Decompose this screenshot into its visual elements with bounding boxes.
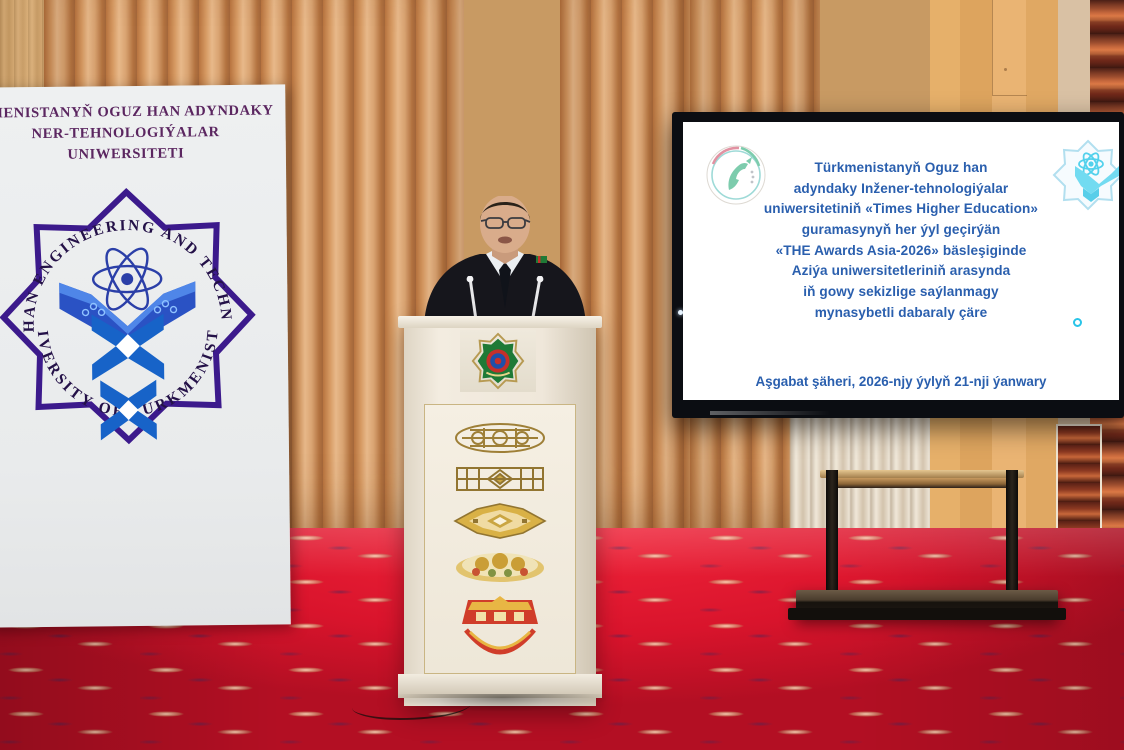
banner-title: KMENISTANYŇ OGUZ HAN ADYNDAKY NER-TEHNOL… xyxy=(0,101,276,167)
slide-line-5: «THE Awards Asia-2026» bäsleşiginde xyxy=(713,241,1089,262)
banner-title-line2: NER-TEHNOLOGIÝALAR UNIWERSITETI xyxy=(0,122,276,167)
floral-medallion-ornament xyxy=(452,548,548,584)
gold-filigree-oval-ornament xyxy=(454,422,546,454)
slide-line-4: guramasynyň her ýyl geçirýän xyxy=(713,220,1089,241)
tv-stand-top-rail xyxy=(820,470,1024,478)
red-gold-crest-ornament xyxy=(450,594,550,656)
banner-title-line1: KMENISTANYŇ OGUZ HAN ADYNDAKY xyxy=(0,101,276,125)
slide-line-1: Türkmenistanyň Oguz han xyxy=(713,158,1089,179)
turkmenistan-state-emblem xyxy=(469,332,527,390)
tv-stand-base xyxy=(796,590,1058,618)
podium-ornament-panel xyxy=(424,404,576,674)
roll-up-banner: KMENISTANYŇ OGUZ HAN ADYNDAKY NER-TEHNOL… xyxy=(0,84,291,627)
dna-ribbon-icon xyxy=(59,281,197,440)
slide-line-7: iň gowy sekizlige saýlanmagy xyxy=(713,282,1089,303)
turkmenistan-flag-pin xyxy=(536,256,547,263)
slide-line-2: adyndaky Inžener-tehnologiýalar xyxy=(713,179,1089,200)
slide-body-text: Türkmenistanyň Oguz han adyndaky Inžener… xyxy=(713,158,1089,323)
mouth xyxy=(498,237,512,244)
slide-line-6: Aziýa uniwersitetleriniň arasynda xyxy=(713,261,1089,282)
tv-brand-strip xyxy=(710,411,830,415)
podium-floor-shadow xyxy=(392,694,612,712)
tv-stand-cross-rail xyxy=(826,478,1018,488)
presentation-screen[interactable]: Türkmenistanyň Oguz han adyndaky Inžener… xyxy=(683,122,1119,400)
tv-stand-leg-left xyxy=(826,470,838,602)
presentation-screen-bezel: Türkmenistanyň Oguz han adyndaky Inžener… xyxy=(672,112,1124,418)
podium-top-edge xyxy=(398,316,602,328)
conference-hall-photo: KMENISTANYŇ OGUZ HAN ADYNDAKY NER-TEHNOL… xyxy=(0,0,1124,750)
slide-line-3: uniwersitetiniň «Times Higher Education» xyxy=(713,199,1089,220)
gold-gul-medallion-ornament xyxy=(451,503,549,539)
tv-stand-leg-right xyxy=(1006,470,1018,602)
slide-line-8: mynasybetli dabaraly çäre xyxy=(713,303,1089,324)
university-emblem: OGUZ HAN ENGINEERING AND TECHNOLOGY UNIV… xyxy=(0,173,269,476)
podium-emblem-plate xyxy=(460,330,536,392)
slide-date-line: Aşgabat şäheri, 2026-njy ýylyň 21-nji ýa… xyxy=(713,374,1089,389)
atom-nucleus xyxy=(121,273,133,285)
gold-lattice-band-ornament xyxy=(453,464,547,494)
